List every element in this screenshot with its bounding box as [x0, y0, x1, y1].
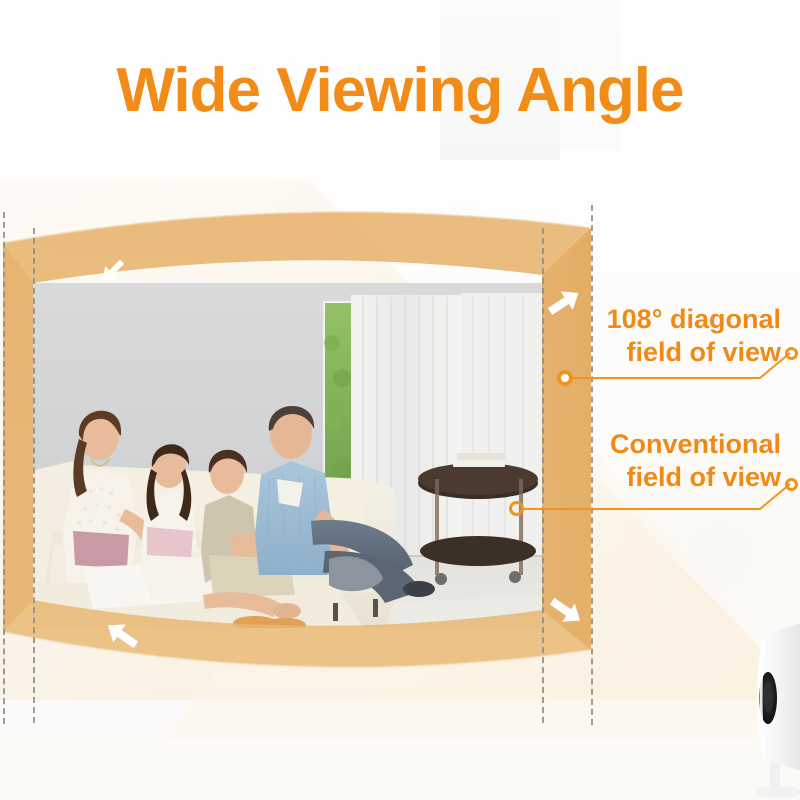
callout-conventional-fov: Conventional field of view	[396, 428, 781, 494]
callout-wide-fov-line2: field of view	[396, 336, 781, 369]
guide-outer-left	[3, 212, 5, 724]
security-camera-device	[744, 610, 800, 800]
page-title: Wide Viewing Angle	[0, 60, 800, 122]
marker-conventional-fov-label	[785, 478, 798, 491]
callout-wide-fov-line1: 108° diagonal	[396, 303, 781, 336]
product-feature-banner: 108° diagonal field of view Conventional…	[0, 0, 800, 800]
marker-wide-fov-label	[785, 347, 798, 360]
marker-conventional-fov-edge	[509, 501, 524, 516]
guide-inner-left	[33, 228, 35, 723]
callout-wide-fov: 108° diagonal field of view	[396, 303, 781, 369]
callout-conventional-fov-line2: field of view	[396, 461, 781, 494]
marker-wide-fov-edge	[557, 370, 573, 386]
callout-conventional-fov-line1: Conventional	[396, 428, 781, 461]
